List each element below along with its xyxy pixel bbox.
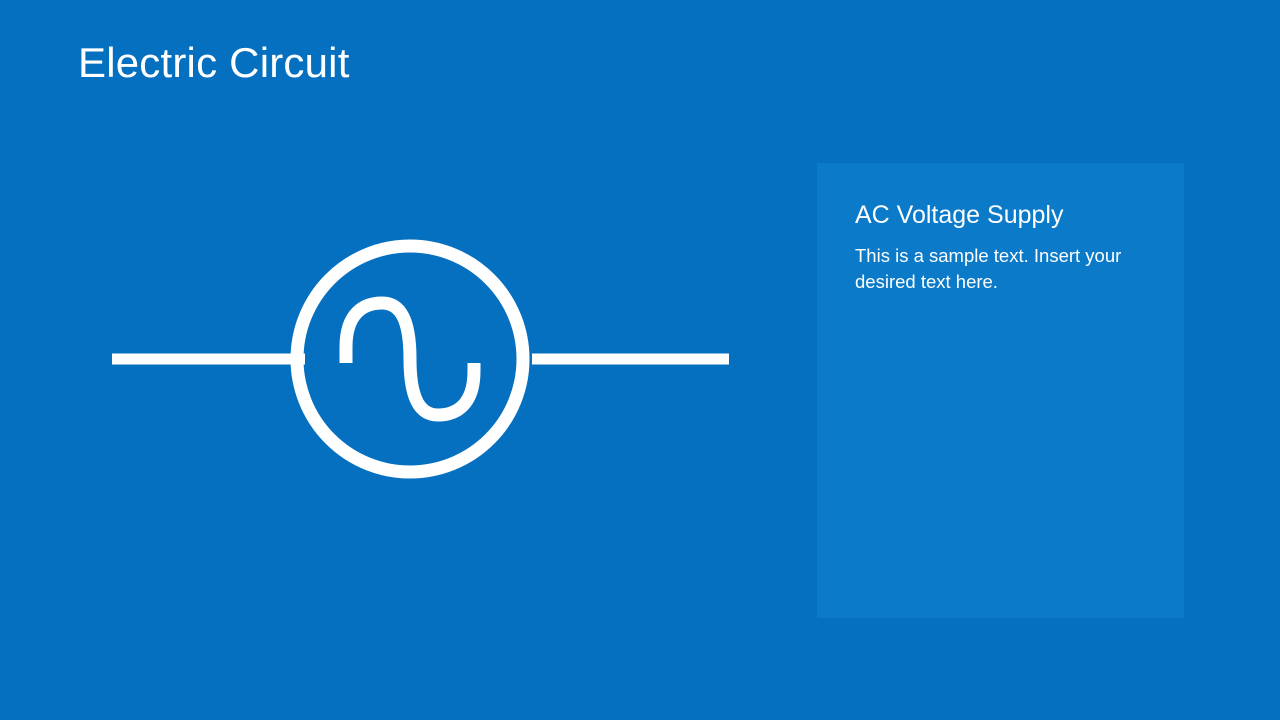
sine-wave-icon xyxy=(346,303,474,415)
page-title: Electric Circuit xyxy=(78,40,350,86)
ac-voltage-source-circuit[interactable] xyxy=(100,215,750,505)
panel-heading: AC Voltage Supply xyxy=(855,201,1150,230)
slide-canvas: Electric Circuit AC Voltage Supply This … xyxy=(0,0,1280,720)
panel-body-text: This is a sample text. Insert your desir… xyxy=(855,243,1131,296)
description-panel: AC Voltage Supply This is a sample text.… xyxy=(817,163,1184,618)
